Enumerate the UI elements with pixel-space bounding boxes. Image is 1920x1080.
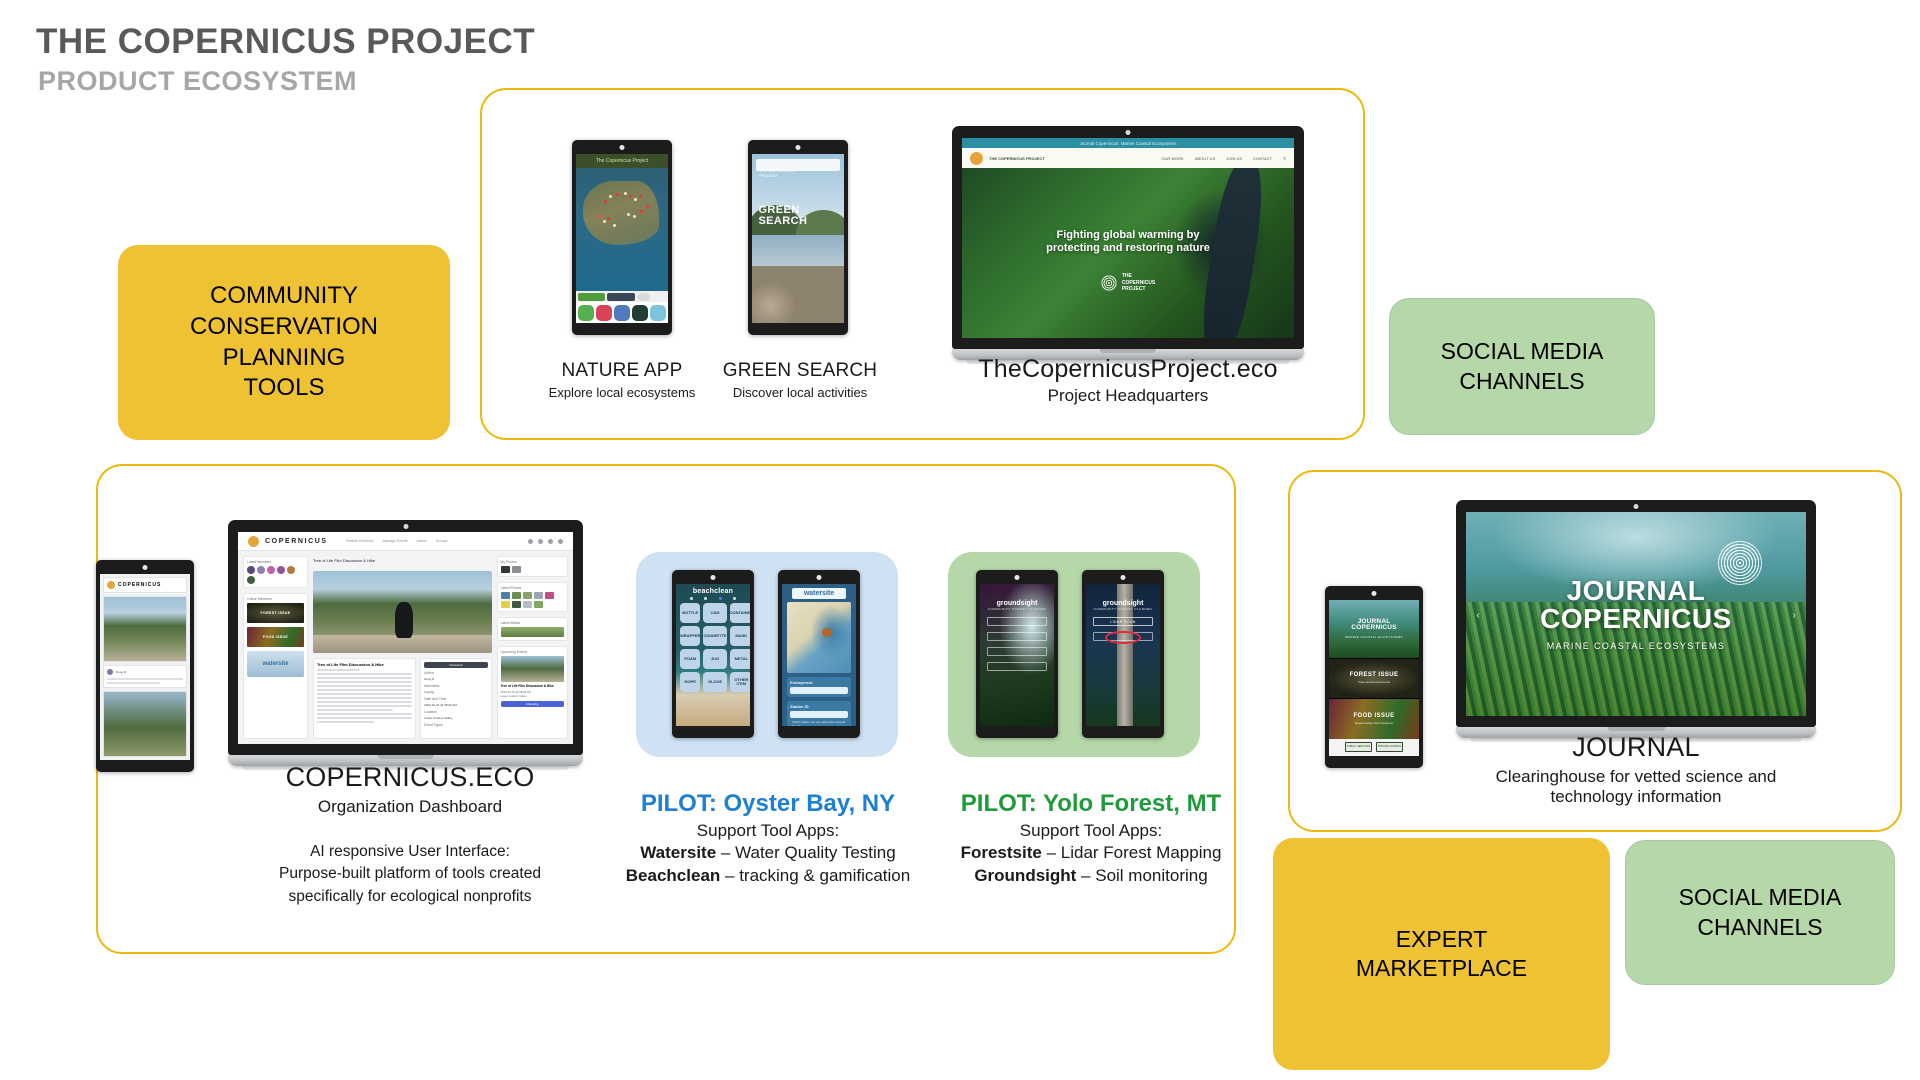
copernicus-logo-icon <box>107 581 115 589</box>
field-hint: Which station are you taking the sample … <box>792 720 848 726</box>
laptop-camera-icon <box>1634 504 1639 509</box>
panel-event-details: Interested Author Doug R Attendees 2 goi… <box>420 658 491 739</box>
avatar <box>107 669 113 675</box>
avatar-list[interactable] <box>247 566 304 584</box>
device-phone-nature-app[interactable]: The Copernicus Project <box>572 140 672 335</box>
nature-app-map[interactable] <box>576 168 668 291</box>
phone-camera-icon <box>817 575 822 580</box>
water-icon[interactable] <box>650 305 666 321</box>
detail-value: 2 going <box>424 690 487 694</box>
nature-app-map-media-toggle[interactable] <box>576 291 668 302</box>
app-desc: – Soil monitoring <box>1081 866 1208 885</box>
chat-icon[interactable] <box>596 305 612 321</box>
hero-line: Fighting global warming by <box>962 229 1294 242</box>
copernicus-logo-icon <box>970 152 983 165</box>
device-phone-dashboard-mobile[interactable]: COPERNICUS Doug R <box>96 560 194 772</box>
tree-icon[interactable] <box>632 305 648 321</box>
nav-link[interactable]: CONTACT <box>1253 156 1272 161</box>
device-phone-beachclean[interactable]: beachclean BOTTLE CAN CONTAINER WRAPPER … <box>672 570 754 738</box>
lidar-scan-button[interactable]: LIDAR SCAN <box>1093 617 1153 626</box>
caption-pilot-yolo-forest: PILOT: Yolo Forest, MT Support Tool Apps… <box>926 790 1256 888</box>
thumbnail[interactable] <box>501 601 510 608</box>
phone-camera-icon <box>711 575 716 580</box>
issue-title: FOOD ISSUE <box>1353 713 1394 719</box>
dashboard-topbar-actions[interactable] <box>528 539 563 544</box>
detail-label: Location <box>424 710 487 714</box>
detail-value: 2022-10-31 @ 08:00 AM <box>424 703 487 707</box>
avatar[interactable] <box>558 539 563 544</box>
chip-line: COMMUNITY <box>190 281 378 312</box>
field-input[interactable] <box>790 711 848 718</box>
groundsight-brand: groundsight <box>1086 584 1160 607</box>
field-label: Embayment <box>790 680 848 685</box>
panel-post-body: Tree of Life Film Discussion & Hike <box>313 658 416 739</box>
tile-label: watersite <box>262 661 288 667</box>
beachclean-item-grid[interactable]: BOTTLE CAN CONTAINER WRAPPER CIGARETTE M… <box>676 603 750 692</box>
nav-item[interactable]: Feature Directory <box>346 539 374 543</box>
caption-title: TheCopernicusProject.eco <box>928 355 1328 384</box>
event-thumbnail[interactable] <box>501 656 565 682</box>
thumbnail[interactable] <box>523 592 532 599</box>
caption-subtitle: Organization Dashboard <box>210 797 610 817</box>
website-announcement-bar[interactable]: Journal Copernicus: Marine Coastal Ecosy… <box>962 138 1294 148</box>
support-app-list: Forestsite – Lidar Forest Mapping Ground… <box>926 841 1256 888</box>
thumbnail[interactable] <box>534 592 543 599</box>
nav-link[interactable]: ABOUT US <box>1195 156 1215 161</box>
panel-latest-photos: Latest Photos <box>497 582 569 612</box>
app-desc: – Water Quality Testing <box>721 843 896 862</box>
dashboard-hero-photo <box>313 571 492 652</box>
notifications-icon[interactable] <box>548 539 553 544</box>
app-desc: – tracking & gamification <box>725 866 910 885</box>
nature-app-settings-icon[interactable] <box>637 293 651 301</box>
screen-watersite: watersite Embayment Station ID Which sta… <box>782 584 856 726</box>
journal-mobile-title: JOURNAL COPERNICUS <box>1351 619 1396 633</box>
mobile-photo-2 <box>103 691 187 757</box>
detail-label: Author <box>424 671 487 675</box>
nature-app-close-icon[interactable] <box>652 293 666 301</box>
tile-label: FOOD ISSUE <box>263 635 288 639</box>
thumbnail[interactable] <box>512 592 521 599</box>
thumbnail[interactable] <box>512 601 521 608</box>
journal-hero-content: JOURNAL COPERNICUS MARINE COASTAL ECOSYS… <box>1466 512 1806 716</box>
screen-beachclean: beachclean BOTTLE CAN CONTAINER WRAPPER … <box>676 584 750 726</box>
website-nav[interactable]: THE COPERNICUS PROJECT OUR WORK ABOUT US… <box>962 148 1294 168</box>
caption-title: GREEN SEARCH <box>690 360 910 382</box>
nav-link[interactable]: JOIN US <box>1226 156 1242 161</box>
journal-hero-tagline: MARINE COASTAL ECOSYSTEMS <box>1547 641 1726 651</box>
chip-line: SOCIAL MEDIA <box>1441 337 1604 366</box>
nature-app-map-button[interactable] <box>578 293 605 301</box>
tile-forest-issue[interactable]: FOREST ISSUE <box>247 603 304 623</box>
media-thumbnail[interactable] <box>501 627 565 637</box>
panel-label: My Photos <box>501 560 565 564</box>
panel-my-photos: My Photos <box>497 556 569 577</box>
detail-value: Lower Hudson Valley <box>424 716 487 720</box>
caption-journal: JOURNAL Clearinghouse for vetted science… <box>1456 732 1816 807</box>
laptop-camera-icon <box>1126 130 1131 135</box>
support-app-list: Watersite – Water Quality Testing Beachc… <box>600 841 936 888</box>
post-title: Tree of Life Film Discussion & Hike <box>317 662 412 667</box>
hero-logo-text: THE COPERNICUS PROJECT <box>1122 273 1155 293</box>
description-line: specifically for ecological nonprofits <box>210 886 610 908</box>
pilot-title: PILOT: Yolo Forest, MT <box>926 790 1256 818</box>
dashboard-post-title: Tree of Life Film Discussion & Hike <box>313 558 492 563</box>
chip-line: CHANNELS <box>1441 367 1604 396</box>
phone-camera-icon <box>1015 575 1020 580</box>
screen-dashboard-mobile: COPERNICUS Doug R <box>100 574 190 760</box>
thumbnail-grid[interactable] <box>501 566 565 573</box>
input-field[interactable] <box>987 617 1047 626</box>
chip-line: CHANNELS <box>1679 913 1842 942</box>
description-line: AI responsive User Interface: <box>210 841 610 863</box>
caption-description: AI responsive User Interface: Purpose-bu… <box>210 841 610 908</box>
search-icon[interactable]: ⚲ <box>1283 156 1286 161</box>
phone-camera-icon <box>796 145 801 150</box>
item-cell[interactable]: JUG <box>703 649 726 669</box>
support-label: Support Tool Apps: <box>926 821 1256 841</box>
members-icon[interactable] <box>538 539 543 544</box>
device-phone-groundsight-b[interactable]: groundsight COMMUNITY FOREST PLANNER LID… <box>1082 570 1164 738</box>
item-cell[interactable]: METAL <box>730 649 750 669</box>
item-cell[interactable]: WRAPPER <box>680 626 700 646</box>
item-cell[interactable]: FOAM <box>680 649 700 669</box>
laptop-lid: Journal Copernicus: Marine Coastal Ecosy… <box>952 126 1304 349</box>
field-label: Station ID <box>790 704 848 709</box>
phone-camera-icon <box>620 145 625 150</box>
item-cell[interactable]: MASK <box>730 626 750 646</box>
panel-label: Latest Members <box>247 560 304 564</box>
tile-food-issue[interactable]: FOOD ISSUE <box>247 627 304 647</box>
chip-social-media-channels-bottom[interactable]: SOCIAL MEDIA CHANNELS <box>1625 840 1895 985</box>
nature-app-media-button[interactable] <box>607 293 634 301</box>
support-app-item: Groundsight – Soil monitoring <box>926 864 1256 887</box>
event-title: Tree of Life Film Discussion & Hike <box>501 684 565 688</box>
support-app-item: Watersite – Water Quality Testing <box>600 841 936 864</box>
panel-label: Latest Media <box>501 621 565 625</box>
lake <box>752 235 844 265</box>
website-brand: THE COPERNICUS PROJECT <box>989 156 1045 161</box>
journal-hero-title: JOURNAL COPERNICUS <box>1540 577 1732 633</box>
input-field[interactable] <box>987 632 1047 641</box>
support-label: Support Tool Apps: <box>600 821 936 841</box>
screen-journal-mobile: JOURNAL COPERNICUS MARINE COASTAL ECOSYS… <box>1329 600 1419 756</box>
green-search-headline: GREEN SEARCH <box>758 205 807 228</box>
watersite-map[interactable] <box>787 602 851 673</box>
caption-pilot-oyster-bay: PILOT: Oyster Bay, NY Support Tool Apps:… <box>600 790 936 888</box>
item-cell[interactable]: OTHER ITEM <box>730 672 750 692</box>
nav-link[interactable]: OUR WORK <box>1161 156 1183 161</box>
subtitle-line: Clearinghouse for vetted science and <box>1456 767 1816 787</box>
panel-online-members: Online Members FOREST ISSUE FOOD ISSUE w… <box>243 593 308 739</box>
support-app-item: Beachclean – tracking & gamification <box>600 864 936 887</box>
app-name: Beachclean <box>626 866 721 885</box>
groundsight-brand: groundsight <box>980 584 1054 607</box>
panel-latest-media: Latest Media <box>497 617 569 641</box>
chip-social-media-channels-top[interactable]: SOCIAL MEDIA CHANNELS <box>1389 298 1655 435</box>
headline-line: SEARCH <box>758 216 807 228</box>
diagram-canvas: THE COPERNICUS PROJECT PRODUCT ECOSYSTEM… <box>0 0 1920 1080</box>
dot[interactable] <box>719 597 722 600</box>
dashboard-brand: COPERNICUS <box>265 538 328 545</box>
thumbnail-grid[interactable] <box>501 592 565 608</box>
carousel-prev-icon[interactable]: ‹ <box>1476 610 1479 621</box>
button-label: Interested <box>449 663 462 667</box>
caption-title: COPERNICUS.ECO <box>210 762 610 793</box>
panel-label: Latest Photos <box>501 586 565 590</box>
nature-app-category-icons[interactable] <box>576 302 668 323</box>
journal-mobile-hero: JOURNAL COPERNICUS MARINE COASTAL ECOSYS… <box>1329 600 1419 658</box>
dot[interactable] <box>733 597 736 600</box>
item-cell[interactable]: GLOVE <box>703 672 726 692</box>
page-title: THE COPERNICUS PROJECT <box>36 22 535 62</box>
thumbnail[interactable] <box>512 566 521 573</box>
logo-line: PROJECT <box>1122 286 1155 293</box>
leaf-icon[interactable] <box>614 305 630 321</box>
website-nav-links[interactable]: OUR WORK ABOUT US JOIN US CONTACT ⚲ <box>1161 156 1286 161</box>
thumbnail[interactable] <box>545 592 554 599</box>
tile-label: FOREST ISSUE <box>261 611 291 615</box>
input-field[interactable] <box>987 647 1047 656</box>
screen-journal-copernicus: ‹ › JOURNAL COPERNICUS MARINE COASTAL EC… <box>1466 512 1806 716</box>
caption-green-search: GREEN SEARCH Discover local activities <box>690 360 910 400</box>
dog-silhouette <box>395 602 413 638</box>
detail-label: Event Types <box>424 723 487 727</box>
detail-value: Doug R <box>424 677 487 681</box>
app-name: Groundsight <box>974 866 1076 885</box>
hero-logo: THE COPERNICUS PROJECT <box>962 273 1294 293</box>
groundsight-tagline: COMMUNITY FOREST PLANNER <box>980 607 1054 611</box>
dot[interactable] <box>690 597 693 600</box>
mobile-brand: COPERNICUS <box>118 582 161 588</box>
issue-subtitle: Regenerative Food Systems <box>1355 721 1393 725</box>
watersite-brand: watersite <box>792 588 847 599</box>
device-laptop-journal[interactable]: ‹ › JOURNAL COPERNICUS MARINE COASTAL EC… <box>1456 500 1816 742</box>
nav-item[interactable]: Groups <box>436 539 448 543</box>
panel-upcoming-events: Upcoming Events Tree of Life Film Discus… <box>497 646 569 739</box>
button-label: Attending <box>526 702 539 706</box>
device-phone-groundsight-a[interactable]: groundsight COMMUNITY FOREST PLANNER <box>976 570 1058 738</box>
panel-latest-members: Latest Members <box>243 556 308 588</box>
laptop-lid: ‹ › JOURNAL COPERNICUS MARINE COASTAL EC… <box>1456 500 1816 727</box>
phone-camera-icon <box>143 565 148 570</box>
map-landmass <box>583 181 658 245</box>
device-phone-watersite[interactable]: watersite Embayment Station ID Which sta… <box>778 570 860 738</box>
field-station-id[interactable]: Station ID Which station are you taking … <box>787 701 851 726</box>
device-laptop-website[interactable]: Journal Copernicus: Marine Coastal Ecosy… <box>952 126 1304 364</box>
chip-line: EXPERT <box>1356 925 1527 954</box>
app-desc: – Lidar Forest Mapping <box>1047 843 1222 862</box>
chip-line: PLANNING <box>190 343 378 374</box>
caption-subtitle: Discover local activities <box>690 385 910 400</box>
screen-copernicus-dashboard: COPERNICUS Feature Directory Manage Even… <box>238 532 573 744</box>
beachclean-brand: beachclean <box>676 584 750 597</box>
caption-subtitle: Project Headquarters <box>928 386 1328 406</box>
mobile-post-author: Doug R <box>116 670 126 674</box>
nature-app-header: The Copernicus Project <box>576 154 668 168</box>
device-phone-green-search[interactable]: THE COPERNICUS PROJECT GREEN SEARCH <box>748 140 848 335</box>
button-label: LIDAR SCAN <box>1110 620 1136 624</box>
input-field[interactable] <box>987 662 1047 671</box>
avatar[interactable] <box>267 566 275 574</box>
panel-label: Upcoming Events <box>501 650 565 654</box>
footer-button-private-funding[interactable]: PRIVATE FUNDING <box>1376 742 1403 752</box>
event-location: Lower Hudson Valley <box>501 694 565 698</box>
dashboard-topbar[interactable]: COPERNICUS Feature Directory Manage Even… <box>238 532 573 551</box>
caption-title: JOURNAL <box>1456 732 1816 763</box>
journal-issue-food[interactable]: FOOD ISSUE Regenerative Food Systems <box>1329 698 1419 739</box>
item-cell[interactable]: CIGARETTE <box>703 626 726 646</box>
panel-label: Online Members <box>247 597 304 601</box>
laptop-lid: COPERNICUS Feature Directory Manage Even… <box>228 520 583 755</box>
thumbnail[interactable] <box>501 592 510 599</box>
copernicus-ring-icon <box>1718 541 1762 585</box>
search-icon[interactable] <box>528 539 533 544</box>
avatar[interactable] <box>257 566 265 574</box>
item-cell[interactable]: ROPE <box>680 672 700 692</box>
avatar[interactable] <box>247 576 255 584</box>
app-name: Forestsite <box>961 843 1042 862</box>
field-input[interactable] <box>790 687 848 694</box>
scan-target-icon <box>1105 631 1141 644</box>
chip-line: TOOLS <box>190 373 378 404</box>
nav-item[interactable]: Manage Events <box>382 539 407 543</box>
bird-icon[interactable] <box>578 305 594 321</box>
screen-green-search: THE COPERNICUS PROJECT GREEN SEARCH <box>752 154 844 323</box>
nav-item[interactable]: Admin <box>416 539 426 543</box>
dot[interactable] <box>704 597 707 600</box>
caption-website: TheCopernicusProject.eco Project Headqua… <box>928 355 1328 406</box>
screen-groundsight-scan: groundsight COMMUNITY FOREST PLANNER LID… <box>1086 584 1160 726</box>
avatar[interactable] <box>247 566 255 574</box>
item-cell[interactable]: BOTTLE <box>680 603 700 623</box>
website-hero: Fighting global warming by protecting an… <box>962 168 1294 338</box>
title-line: COPERNICUS <box>1540 605 1732 633</box>
subtitle-line: technology information <box>1456 787 1816 807</box>
title-line: JOURNAL <box>1540 577 1732 605</box>
item-cell[interactable]: CAN <box>703 603 726 623</box>
dashboard-body: Latest Members <box>238 551 573 744</box>
rocks <box>752 266 844 323</box>
journal-mobile-footer[interactable]: PUBLIC SERVICES PRIVATE FUNDING <box>1329 739 1419 756</box>
chip-line: CONSERVATION <box>190 312 378 343</box>
nature-app-header-text: The Copernicus Project <box>596 158 648 164</box>
copernicus-ring-icon <box>1101 275 1117 291</box>
copernicus-logo-icon <box>248 536 259 547</box>
issue-title: FOREST ISSUE <box>1350 672 1399 678</box>
device-laptop-dashboard[interactable]: COPERNICUS Feature Directory Manage Even… <box>228 520 583 770</box>
page-subtitle: PRODUCT ECOSYSTEM <box>38 66 357 97</box>
map-marker[interactable] <box>822 628 832 638</box>
hero-line: protecting and restoring nature <box>962 242 1294 255</box>
announcement-text: Journal Copernicus: Marine Coastal Ecosy… <box>1079 141 1176 146</box>
screen-nature-app: The Copernicus Project <box>576 154 668 323</box>
caption-subtitle: Clearinghouse for vetted science and tec… <box>1456 767 1816 807</box>
thumbnail[interactable] <box>501 566 510 573</box>
phone-camera-icon <box>1121 575 1126 580</box>
footer-button-public-services[interactable]: PUBLIC SERVICES <box>1345 742 1372 752</box>
detail-label: Date And Time <box>424 697 487 701</box>
laptop-camera-icon <box>403 524 408 529</box>
thumbnail[interactable] <box>523 601 532 608</box>
journal-mobile-tagline: MARINE COASTAL ECOSYSTEMS <box>1345 635 1403 639</box>
hero-headline: Fighting global warming by protecting an… <box>962 229 1294 255</box>
carousel-next-icon[interactable]: › <box>1792 610 1795 621</box>
phone-camera-icon <box>1372 591 1377 596</box>
screen-groundsight-home: groundsight COMMUNITY FOREST PLANNER <box>980 584 1054 726</box>
mobile-hero-photo <box>103 596 187 662</box>
chip-expert-marketplace[interactable]: EXPERT MARKETPLACE <box>1273 838 1610 1070</box>
pilot-title: PILOT: Oyster Bay, NY <box>600 790 936 818</box>
screen-copernicus-website: Journal Copernicus: Marine Coastal Ecosy… <box>962 138 1294 338</box>
chip-line: SOCIAL MEDIA <box>1679 883 1842 912</box>
item-cell[interactable]: CONTAINER <box>730 603 750 623</box>
support-app-item: Forestsite – Lidar Forest Mapping <box>926 841 1256 864</box>
field-embayment[interactable]: Embayment <box>787 677 851 697</box>
caption-dashboard: COPERNICUS.ECO Organization Dashboard AI… <box>210 762 610 908</box>
app-name: Watersite <box>640 843 716 862</box>
dashboard-nav[interactable]: Feature Directory Manage Events Admin Gr… <box>346 539 448 543</box>
journal-issue-forest[interactable]: FOREST ISSUE Trees and Forest Funds <box>1329 658 1419 699</box>
tile-watersite[interactable]: watersite <box>247 651 304 677</box>
device-phone-journal[interactable]: JOURNAL COPERNICUS MARINE COASTAL ECOSYS… <box>1325 586 1423 768</box>
attending-button[interactable]: Attending <box>501 701 565 707</box>
detail-label: Attendees <box>424 684 487 688</box>
chip-line: MARKETPLACE <box>1356 954 1527 983</box>
description-line: Purpose-built platform of tools created <box>210 863 610 885</box>
issue-subtitle: Trees and Forest Funds <box>1358 680 1390 684</box>
groundsight-tagline: COMMUNITY FOREST PLANNER <box>1086 607 1160 611</box>
title-line: COPERNICUS <box>1351 625 1396 632</box>
interested-button[interactable]: Interested <box>424 662 487 668</box>
avatar[interactable] <box>277 566 285 574</box>
avatar[interactable] <box>287 566 295 574</box>
mobile-post-card[interactable]: Doug R <box>103 665 187 688</box>
green-search-logo-text: THE COPERNICUS PROJECT <box>759 168 799 178</box>
chip-community-conservation-planning-tools[interactable]: COMMUNITY CONSERVATION PLANNING TOOLS <box>118 245 450 440</box>
thumbnail[interactable] <box>534 601 543 608</box>
